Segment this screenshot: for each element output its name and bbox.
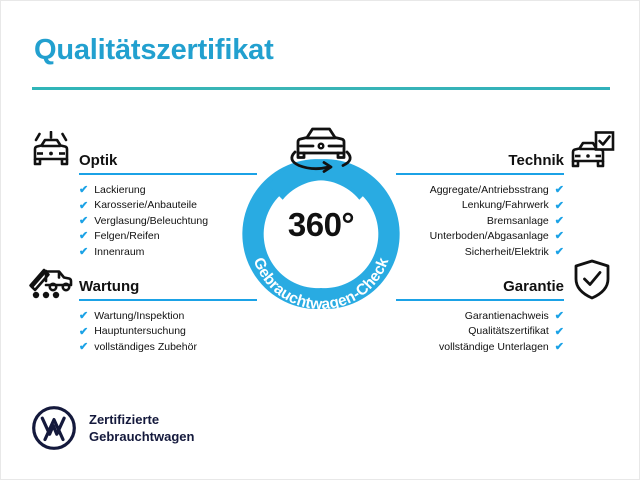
check-icon: ✔ bbox=[79, 231, 88, 242]
list-item: ✔Lenkung/Fahrwerk bbox=[396, 198, 564, 213]
brand-line-1: Zertifizierte bbox=[89, 411, 194, 428]
check-icon: ✔ bbox=[555, 216, 564, 227]
list-item: ✔Lackierung bbox=[79, 183, 257, 198]
section-divider bbox=[396, 173, 564, 175]
brand-text: Zertifizierte Gebrauchtwagen bbox=[89, 411, 194, 445]
list-item: ✔Qualitätszertifikat bbox=[396, 324, 564, 339]
section-divider bbox=[79, 299, 257, 301]
section-header: Garantie bbox=[396, 273, 564, 297]
title-divider bbox=[32, 87, 610, 90]
section-header: Technik bbox=[396, 147, 564, 171]
list-item-label: Garantienachweis bbox=[465, 309, 549, 324]
list-item: ✔Aggregate/Antriebsstrang bbox=[396, 183, 564, 198]
brand-line-2: Gebrauchtwagen bbox=[89, 428, 194, 445]
list-item: ✔Bremsanlage bbox=[396, 214, 564, 229]
car-shine-icon bbox=[28, 131, 76, 178]
check-icon: ✔ bbox=[555, 342, 564, 353]
section-title: Technik bbox=[508, 152, 564, 169]
list-item-label: Sicherheit/Elektrik bbox=[465, 245, 549, 260]
volkswagen-logo bbox=[32, 406, 76, 450]
list-item: ✔Garantienachweis bbox=[396, 309, 564, 324]
list-item-label: vollständige Unterlagen bbox=[439, 340, 549, 355]
list-item: ✔Unterboden/Abgasanlage bbox=[396, 229, 564, 244]
list-item-label: Felgen/Reifen bbox=[94, 229, 159, 244]
check-icon: ✔ bbox=[79, 342, 88, 353]
check-icon: ✔ bbox=[555, 311, 564, 322]
list-item: ✔Felgen/Reifen bbox=[79, 229, 257, 244]
car-service-tool-icon bbox=[26, 259, 76, 306]
section-garantie: Garantie ✔Garantienachweis ✔Qualitätszer… bbox=[396, 273, 564, 355]
list-item-label: Innenraum bbox=[94, 245, 144, 260]
list-item-label: Karosserie/Anbauteile bbox=[94, 198, 197, 213]
section-header: Wartung bbox=[79, 273, 257, 297]
footer-brand: Zertifizierte Gebrauchtwagen bbox=[32, 406, 194, 450]
section-technik: Technik ✔Aggregate/Antriebsstrang ✔Lenku… bbox=[396, 147, 564, 260]
check-icon: ✔ bbox=[555, 185, 564, 196]
list-item: ✔vollständiges Zubehör bbox=[79, 340, 257, 355]
list-item-label: Hauptuntersuchung bbox=[94, 324, 186, 339]
list-item: ✔Wartung/Inspektion bbox=[79, 309, 257, 324]
check-icon: ✔ bbox=[79, 216, 88, 227]
section-optik: Optik ✔Lackierung ✔Karosserie/Anbauteile… bbox=[79, 147, 257, 260]
list-item-label: Aggregate/Antriebsstrang bbox=[430, 183, 549, 198]
section-divider bbox=[396, 299, 564, 301]
list-item-label: Wartung/Inspektion bbox=[94, 309, 184, 324]
list-item-label: vollständiges Zubehör bbox=[94, 340, 197, 355]
list-item: ✔Karosserie/Anbauteile bbox=[79, 198, 257, 213]
section-title: Garantie bbox=[503, 278, 564, 295]
check-icon: ✔ bbox=[555, 231, 564, 242]
shield-check-icon bbox=[572, 259, 612, 306]
section-divider bbox=[79, 173, 257, 175]
check-icon: ✔ bbox=[555, 201, 564, 212]
list-item-label: Qualitätszertifikat bbox=[468, 324, 549, 339]
list-item: ✔Sicherheit/Elektrik bbox=[396, 245, 564, 260]
certificate-page: Qualitätszertifikat bbox=[0, 0, 640, 480]
section-title: Optik bbox=[79, 152, 117, 169]
checklist: ✔Garantienachweis ✔Qualitätszertifikat ✔… bbox=[396, 309, 564, 355]
check-icon: ✔ bbox=[79, 311, 88, 322]
checklist: ✔Aggregate/Antriebsstrang ✔Lenkung/Fahrw… bbox=[396, 183, 564, 260]
check-icon: ✔ bbox=[79, 201, 88, 212]
checklist: ✔Wartung/Inspektion ✔Hauptuntersuchung ✔… bbox=[79, 309, 257, 355]
car-check-icon bbox=[569, 131, 615, 178]
check-icon: ✔ bbox=[79, 185, 88, 196]
list-item: ✔Verglasung/Beleuchtung bbox=[79, 214, 257, 229]
list-item-label: Unterboden/Abgasanlage bbox=[430, 229, 549, 244]
list-item-label: Bremsanlage bbox=[487, 214, 549, 229]
section-wartung: Wartung ✔Wartung/Inspektion ✔Hauptunters… bbox=[79, 273, 257, 355]
check-icon: ✔ bbox=[79, 327, 88, 338]
list-item: ✔Innenraum bbox=[79, 245, 257, 260]
check-icon: ✔ bbox=[555, 327, 564, 338]
list-item-label: Lackierung bbox=[94, 183, 145, 198]
check-icon: ✔ bbox=[555, 247, 564, 258]
page-title: Qualitätszertifikat bbox=[34, 34, 274, 67]
list-item: ✔vollständige Unterlagen bbox=[396, 340, 564, 355]
section-header: Optik bbox=[79, 147, 257, 171]
list-item-label: Verglasung/Beleuchtung bbox=[94, 214, 208, 229]
list-item: ✔Hauptuntersuchung bbox=[79, 324, 257, 339]
section-title: Wartung bbox=[79, 278, 139, 295]
list-item-label: Lenkung/Fahrwerk bbox=[462, 198, 549, 213]
car-rotation-icon bbox=[269, 119, 373, 173]
check-icon: ✔ bbox=[79, 247, 88, 258]
checklist: ✔Lackierung ✔Karosserie/Anbauteile ✔Verg… bbox=[79, 183, 257, 260]
